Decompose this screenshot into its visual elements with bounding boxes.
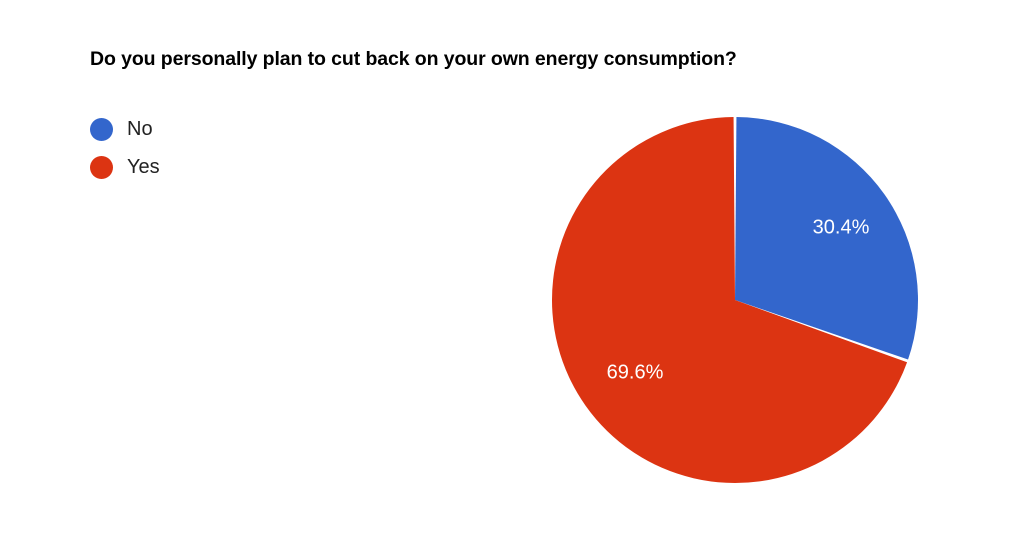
- pie-slices: [552, 117, 918, 483]
- pie-slice-label-yes: 69.6%: [607, 361, 664, 383]
- pie-slice-label-no: 30.4%: [813, 216, 870, 238]
- pie-svg: 30.4% 69.6%: [0, 0, 1036, 550]
- pie-plot-area: 30.4% 69.6%: [0, 0, 1036, 550]
- pie-chart-figure: Do you personally plan to cut back on yo…: [0, 0, 1036, 550]
